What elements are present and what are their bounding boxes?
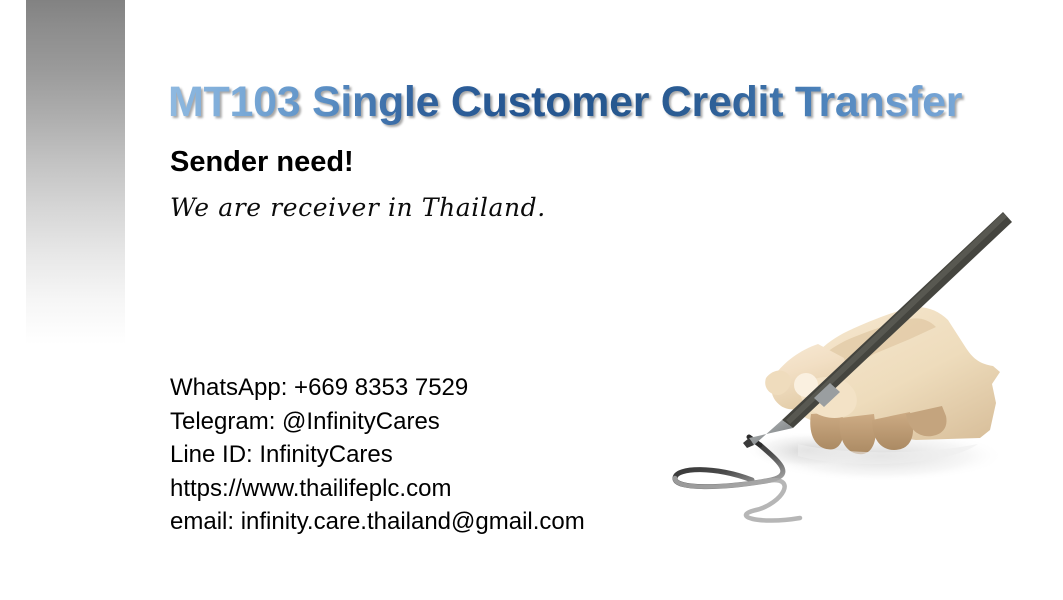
- contact-line-lineid: Line ID: InfinityCares: [170, 438, 730, 472]
- headline-text: Sender need!: [170, 145, 354, 179]
- contact-line-telegram: Telegram: @InfinityCares: [170, 405, 730, 439]
- left-gradient-bar: [26, 0, 125, 345]
- contact-line-website[interactable]: https://www.thailifeplc.com: [170, 472, 730, 506]
- contact-line-email[interactable]: email: infinity.care.thailand@gmail.com: [170, 505, 730, 539]
- hand-writing-illustration: [648, 198, 1048, 538]
- slide-canvas: MT103 Single Customer Credit Transfer Se…: [0, 0, 1063, 600]
- subheadline-text: We are receiver in Thailand.: [170, 192, 546, 224]
- page-title: MT103 Single Customer Credit Transfer: [168, 77, 1008, 127]
- signature-squiggle-tail: [675, 478, 800, 521]
- contact-line-whatsapp: WhatsApp: +669 8353 7529: [170, 371, 730, 405]
- title-container: MT103 Single Customer Credit Transfer: [168, 77, 1008, 131]
- contact-details-block: WhatsApp: +669 8353 7529 Telegram: @Infi…: [170, 371, 730, 539]
